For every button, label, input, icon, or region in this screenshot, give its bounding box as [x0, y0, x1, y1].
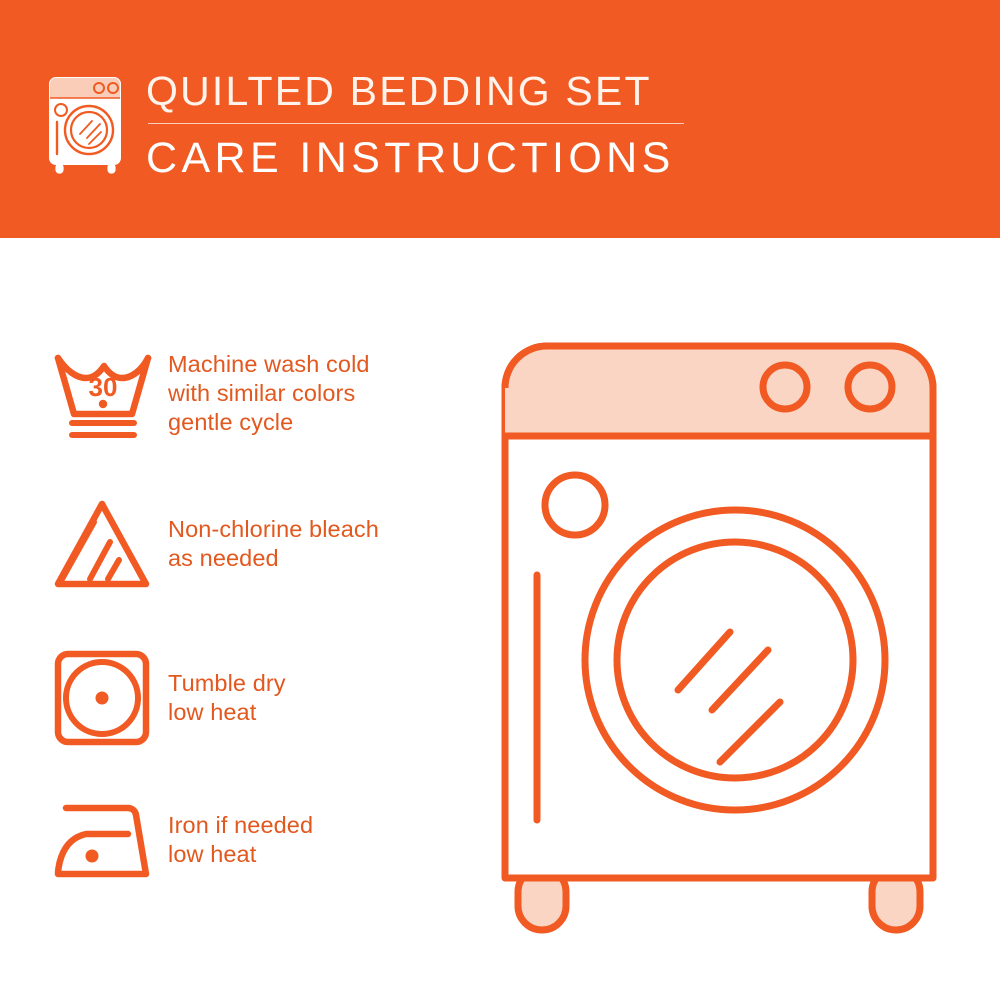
tumble-dry-low-heat-icon	[50, 650, 162, 746]
washing-machine-icon	[44, 72, 130, 176]
care-instruction-item: Tumble dry low heat	[50, 650, 480, 746]
care-text-line: gentle cycle	[168, 408, 370, 437]
care-text-line: Machine wash cold	[168, 350, 370, 379]
care-text-line: Non-chlorine bleach	[168, 515, 379, 544]
care-instruction-item: Non-chlorine bleach as needed	[50, 496, 480, 592]
care-instruction-text: Iron if needed low heat	[162, 811, 313, 869]
page-title-secondary: CARE INSTRUCTIONS	[146, 133, 706, 183]
care-text-line: low heat	[168, 698, 286, 727]
header-title-block: QUILTED BEDDING SET CARE INSTRUCTIONS	[146, 68, 706, 183]
care-instruction-item: 30 Machine wash cold with similar colors…	[50, 344, 480, 442]
bleach-triangle-icon	[50, 496, 162, 592]
care-text-line: low heat	[168, 840, 313, 869]
header-band: QUILTED BEDDING SET CARE INSTRUCTIONS	[0, 0, 1000, 238]
care-instruction-text: Machine wash cold with similar colors ge…	[162, 350, 370, 437]
page-title-primary: QUILTED BEDDING SET	[146, 68, 706, 114]
washing-machine-illustration	[480, 320, 990, 950]
title-divider	[148, 123, 684, 124]
care-instruction-text: Non-chlorine bleach as needed	[162, 515, 379, 573]
care-text-line: as needed	[168, 544, 379, 573]
care-instructions-page: QUILTED BEDDING SET CARE INSTRUCTIONS 30…	[0, 0, 1000, 1000]
wash-basin-30-icon: 30	[50, 344, 162, 442]
wash-temperature-label: 30	[89, 372, 118, 402]
care-text-line: Iron if needed	[168, 811, 313, 840]
care-instruction-list: 30 Machine wash cold with similar colors…	[0, 238, 500, 1000]
care-instruction-item: Iron if needed low heat	[50, 798, 480, 882]
care-text-line: Tumble dry	[168, 669, 286, 698]
iron-low-heat-icon	[50, 798, 162, 882]
care-instruction-text: Tumble dry low heat	[162, 669, 286, 727]
machine-control-panel	[505, 346, 933, 436]
care-text-line: with similar colors	[168, 379, 370, 408]
